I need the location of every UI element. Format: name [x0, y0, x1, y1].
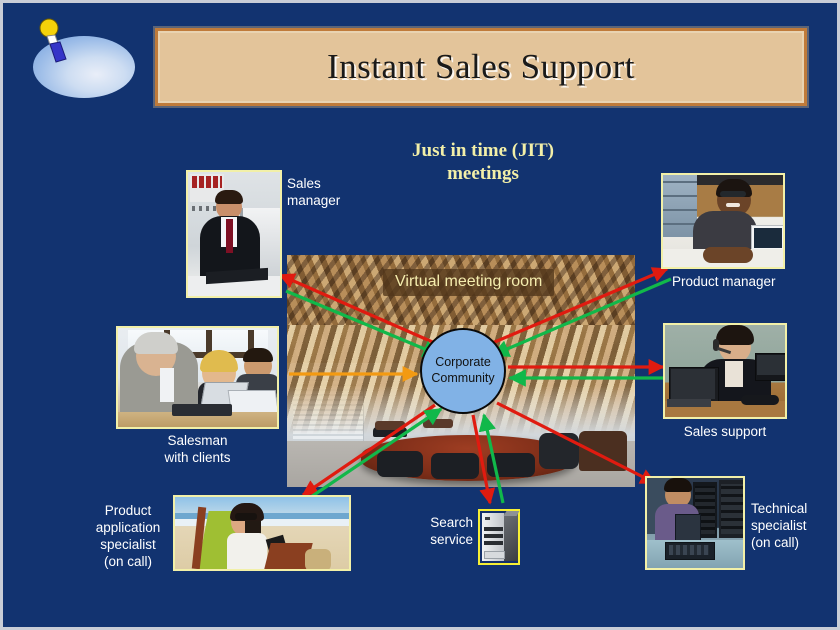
- jit-heading-line2: meetings: [333, 162, 633, 185]
- label-sales-support: Sales support: [663, 424, 787, 441]
- corporate-community-line1: Corporate: [431, 355, 494, 371]
- label-search-service-line2: service: [411, 532, 473, 549]
- photo-sales-manager[interactable]: [186, 170, 282, 298]
- photo-technical-specialist[interactable]: [645, 476, 745, 570]
- label-technical-specialist: Technical specialist (on call): [751, 501, 837, 552]
- meeting-room-chair-back: [423, 419, 453, 428]
- label-technical-specialist-line2: specialist: [751, 518, 837, 535]
- meeting-room-chair: [431, 453, 479, 479]
- label-product-manager-line1: Product manager: [672, 274, 776, 291]
- label-pas-line2: application: [87, 520, 169, 537]
- label-sales-support-line1: Sales support: [663, 424, 787, 441]
- page-title: Instant Sales Support: [327, 47, 635, 87]
- label-search-service-line1: Search: [411, 515, 473, 532]
- jit-heading-line1: Just in time (JIT): [333, 139, 633, 162]
- label-sales-manager-line1: Sales: [287, 176, 340, 193]
- label-salesman-line1: Salesman: [116, 433, 279, 450]
- photo-sales-support[interactable]: [663, 323, 787, 419]
- label-technical-specialist-line1: Technical: [751, 501, 837, 518]
- photo-salesman-with-clients[interactable]: [116, 326, 279, 429]
- jit-heading: Just in time (JIT) meetings: [333, 139, 633, 185]
- label-technical-specialist-line3: (on call): [751, 535, 837, 552]
- meeting-room-chair: [539, 433, 579, 469]
- label-product-application-specialist: Product application specialist (on call): [87, 503, 169, 571]
- label-salesman-with-clients: Salesman with clients: [116, 433, 279, 467]
- label-product-manager: Product manager: [672, 274, 776, 291]
- meeting-room-chair-leather: [579, 431, 627, 471]
- photo-search-service[interactable]: [478, 509, 520, 565]
- logo-person-icon: [34, 16, 74, 68]
- label-pas-line4: (on call): [87, 554, 169, 571]
- title-banner: Instant Sales Support: [155, 28, 807, 106]
- corporate-community-node[interactable]: Corporate Community: [420, 328, 506, 414]
- meeting-room-chair: [377, 451, 423, 477]
- label-sales-manager: Sales manager: [287, 176, 340, 210]
- slide-canvas: Instant Sales Support Just in time (JIT)…: [0, 0, 840, 630]
- corporate-community-line2: Community: [431, 371, 494, 387]
- label-pas-line1: Product: [87, 503, 169, 520]
- photo-product-manager[interactable]: [661, 173, 785, 269]
- label-pas-line3: specialist: [87, 537, 169, 554]
- meeting-room-chair: [487, 453, 535, 477]
- virtual-meeting-room-label: Virtual meeting room: [383, 269, 554, 296]
- meeting-room-chair-back: [375, 421, 405, 430]
- label-salesman-line2: with clients: [116, 450, 279, 467]
- photo-product-application-specialist[interactable]: [173, 495, 351, 571]
- label-sales-manager-line2: manager: [287, 193, 340, 210]
- label-search-service: Search service: [411, 515, 473, 549]
